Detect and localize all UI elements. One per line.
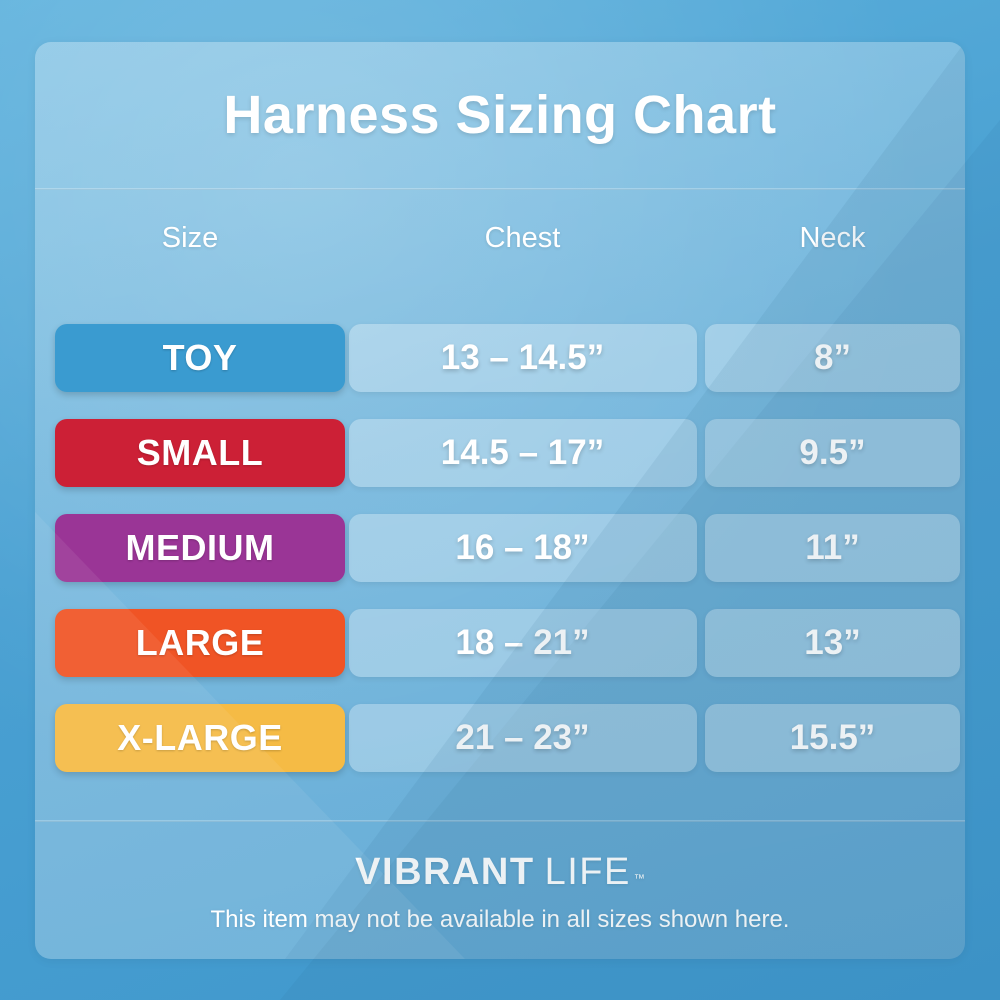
table-row: LARGE 18 – 21” 13” (35, 595, 965, 690)
sizing-chart-card: Harness Sizing Chart Size Chest Neck TOY… (35, 42, 965, 959)
column-header-neck: Neck (700, 222, 965, 255)
disclaimer-text: This item may not be available in all si… (211, 906, 790, 934)
footer: VIBRANT LIFE ™ This item may not be avai… (35, 820, 965, 959)
cell-chest: 18 – 21” (345, 609, 700, 677)
size-pill-x-large: X-LARGE (55, 704, 345, 772)
cell-size: MEDIUM (35, 514, 345, 582)
table-body: TOY 13 – 14.5” 8” SMALL 14.5 – 17” (35, 310, 965, 785)
cell-size: LARGE (35, 609, 345, 677)
size-pill-medium: MEDIUM (55, 514, 345, 582)
card-inner: Harness Sizing Chart Size Chest Neck TOY… (35, 42, 965, 959)
trademark-symbol: ™ (634, 873, 645, 885)
cell-chest: 16 – 18” (345, 514, 700, 582)
table-row: X-LARGE 21 – 23” 15.5” (35, 690, 965, 785)
neck-value-large: 13” (705, 609, 960, 677)
chest-value-toy: 13 – 14.5” (349, 324, 697, 392)
cell-neck: 9.5” (700, 419, 965, 487)
chest-value-small: 14.5 – 17” (349, 419, 697, 487)
column-header-size: Size (35, 222, 345, 255)
neck-value-toy: 8” (705, 324, 960, 392)
column-header-chest: Chest (345, 222, 700, 255)
cell-size: SMALL (35, 419, 345, 487)
brand-name-primary: VIBRANT (355, 851, 534, 894)
cell-neck: 8” (700, 324, 965, 392)
size-pill-toy: TOY (55, 324, 345, 392)
cell-size: X-LARGE (35, 704, 345, 772)
cell-size: TOY (35, 324, 345, 392)
title-zone: Harness Sizing Chart (35, 42, 965, 188)
table-row: SMALL 14.5 – 17” 9.5” (35, 405, 965, 500)
neck-value-medium: 11” (705, 514, 960, 582)
neck-value-small: 9.5” (705, 419, 960, 487)
cell-chest: 14.5 – 17” (345, 419, 700, 487)
size-pill-large: LARGE (55, 609, 345, 677)
table-header-row: Size Chest Neck (35, 188, 965, 288)
cell-neck: 15.5” (700, 704, 965, 772)
table-row: MEDIUM 16 – 18” 11” (35, 500, 965, 595)
chest-value-x-large: 21 – 23” (349, 704, 697, 772)
chest-value-large: 18 – 21” (349, 609, 697, 677)
table-row: TOY 13 – 14.5” 8” (35, 310, 965, 405)
brand-logo: VIBRANT LIFE ™ (355, 851, 645, 894)
page-title: Harness Sizing Chart (223, 84, 776, 146)
size-pill-small: SMALL (55, 419, 345, 487)
brand-name-secondary: LIFE (545, 851, 631, 894)
cell-chest: 13 – 14.5” (345, 324, 700, 392)
page-root: Harness Sizing Chart Size Chest Neck TOY… (0, 0, 1000, 1000)
cell-neck: 13” (700, 609, 965, 677)
neck-value-x-large: 15.5” (705, 704, 960, 772)
cell-neck: 11” (700, 514, 965, 582)
cell-chest: 21 – 23” (345, 704, 700, 772)
chest-value-medium: 16 – 18” (349, 514, 697, 582)
